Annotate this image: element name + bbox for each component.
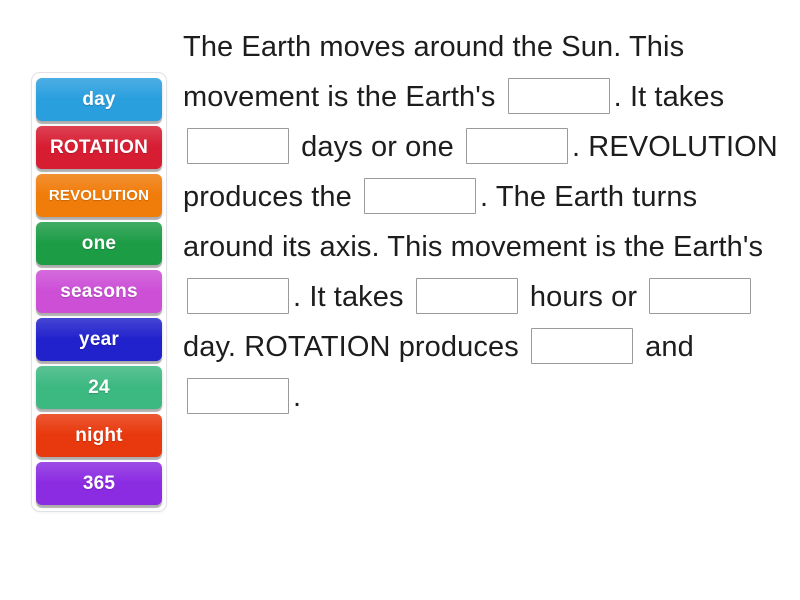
word-tile-label: night	[75, 426, 122, 445]
word-tile-year[interactable]: year	[36, 318, 162, 361]
word-tile-label: 365	[83, 474, 115, 493]
word-tile-label: seasons	[60, 282, 137, 301]
word-tile-seasons[interactable]: seasons	[36, 270, 162, 313]
word-tile-one[interactable]: one	[36, 222, 162, 265]
cloze-passage: The Earth moves around the Sun. This mov…	[183, 22, 783, 422]
answer-blank-2[interactable]	[187, 128, 289, 164]
answer-blank-4[interactable]	[364, 178, 476, 214]
answer-blank-7[interactable]	[649, 278, 751, 314]
word-tile-revolution[interactable]: REVOLUTION	[36, 174, 162, 217]
answer-blank-6[interactable]	[416, 278, 518, 314]
passage-text: hours or	[522, 281, 646, 313]
answer-blank-5[interactable]	[187, 278, 289, 314]
word-tile-label: year	[79, 330, 119, 349]
word-tile-365[interactable]: 365	[36, 462, 162, 505]
activity-canvas: dayROTATIONREVOLUTIONoneseasonsyear24nig…	[0, 0, 800, 600]
word-tile-24[interactable]: 24	[36, 366, 162, 409]
word-tile-label: REVOLUTION	[49, 188, 149, 203]
answer-blank-8[interactable]	[531, 328, 633, 364]
word-tile-day[interactable]: day	[36, 78, 162, 121]
answer-blank-3[interactable]	[466, 128, 568, 164]
passage-text: days or one	[293, 131, 462, 163]
word-tile-rotation[interactable]: ROTATION	[36, 126, 162, 169]
word-tile-label: one	[82, 234, 116, 253]
word-tile-night[interactable]: night	[36, 414, 162, 457]
answer-blank-1[interactable]	[508, 78, 610, 114]
word-tile-bank: dayROTATIONREVOLUTIONoneseasonsyear24nig…	[31, 72, 167, 512]
passage-text: . It takes	[293, 281, 412, 313]
answer-blank-9[interactable]	[187, 378, 289, 414]
passage-text: and	[637, 331, 702, 363]
passage-text: .	[293, 381, 301, 413]
word-tile-label: ROTATION	[50, 138, 148, 157]
word-tile-label: day	[82, 90, 115, 109]
word-tile-label: 24	[88, 378, 110, 397]
passage-text: . It takes	[614, 81, 733, 113]
